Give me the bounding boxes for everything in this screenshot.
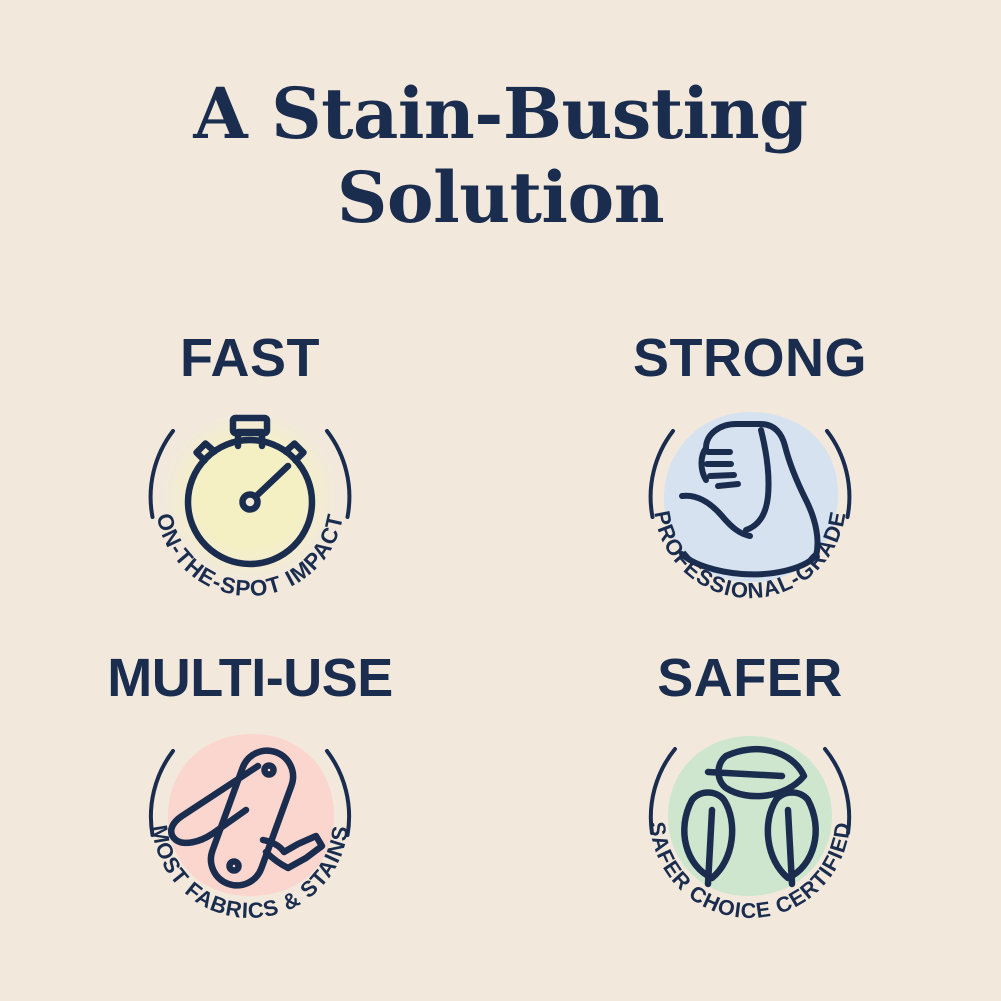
badge-multi-use: MULTI-USE (0, 632, 500, 952)
badge-safer-emblem: SAFER CHOICE CERTIFIED (630, 694, 870, 946)
badge-multi-use-emblem: MOST FABRICS & STAINS (130, 694, 370, 946)
infographic-page: A Stain-Busting Solution FAST (0, 0, 1001, 1001)
page-title: A Stain-Busting Solution (0, 72, 1001, 240)
badge-fast: FAST (0, 312, 500, 632)
badge-safer: SAFER (500, 632, 1000, 952)
badge-fast-emblem: ON-THE-SPOT IMPACT (130, 374, 370, 626)
page-title-line-2: Solution (0, 156, 1001, 240)
page-title-line-1: A Stain-Busting (0, 72, 1001, 156)
benefit-badge-grid: FAST (0, 312, 1001, 952)
badge-strong: STRONG (500, 312, 1000, 632)
badge-strong-emblem: PROFESSIONAL-GRADE (630, 374, 870, 626)
badge-safer-blob (668, 736, 832, 896)
